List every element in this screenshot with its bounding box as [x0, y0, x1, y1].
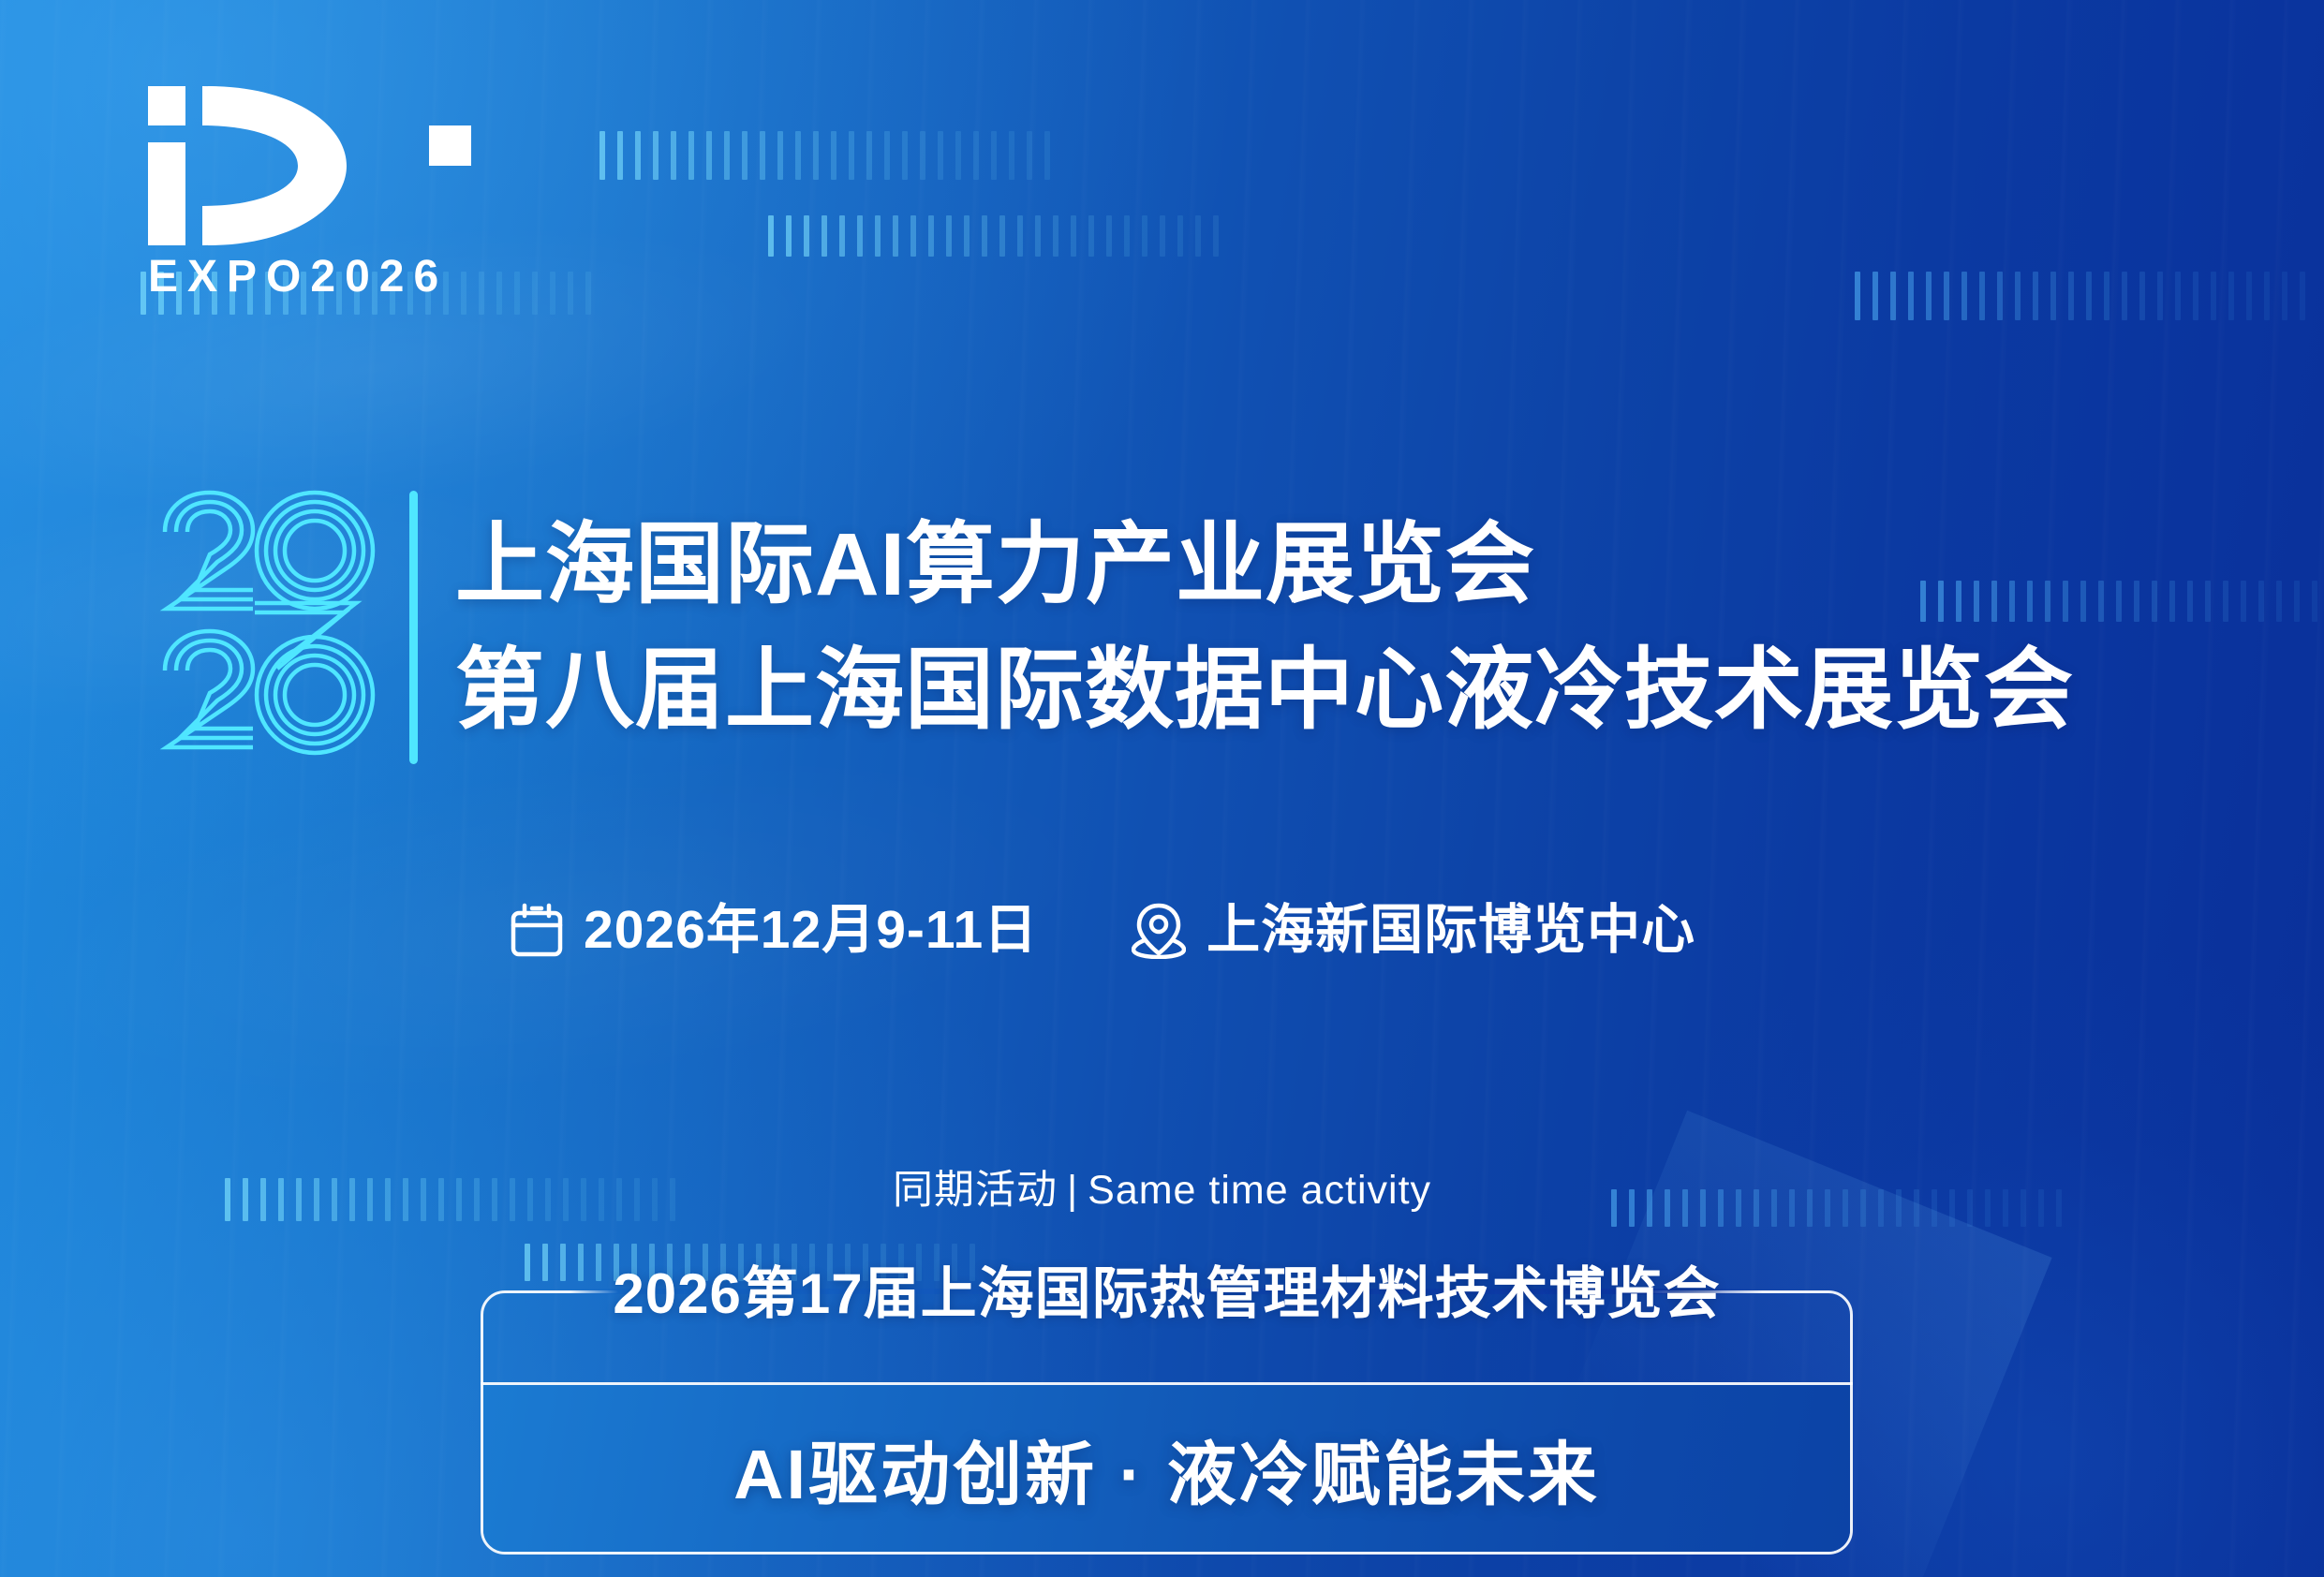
location-pin-icon	[1132, 901, 1186, 959]
event-date-text: 2026年12月9-11日	[584, 904, 1038, 957]
same-time-en: Same time activity	[1088, 1168, 1431, 1213]
idc-monogram-icon	[148, 86, 478, 245]
event-info-row: 2026年12月9-11日 上海新国际博览中心	[511, 901, 1695, 959]
title-line-2: 第八届上海国际数据中心液冷技术展览会	[455, 638, 2074, 743]
title-line-1: 上海国际AI算力产业展览会	[455, 512, 2074, 617]
same-time-cn: 同期活动	[893, 1168, 1058, 1213]
co-event-heading: 2026第17届上海国际热管理材料技术博览会	[481, 1248, 1853, 1330]
calendar-icon	[511, 902, 563, 958]
same-time-separator: |	[1058, 1168, 1088, 1213]
co-event-slogan: AI驱动创新 · 液冷赋能未来	[481, 1385, 1853, 1552]
title-accent-rule	[409, 491, 418, 764]
co-event-frame: 2026第17届上海国际热管理材料技术博览会 AI驱动创新 · 液冷赋能未来	[481, 1290, 1853, 1555]
idc-expo-logo[interactable]: EXPO2026	[148, 86, 485, 300]
same-time-activity: 同期活动|Same time activity	[0, 1157, 2324, 1216]
event-venue-text: 上海新国际博览中心	[1206, 904, 1695, 957]
year-2026-graphic	[157, 487, 377, 768]
event-date: 2026年12月9-11日	[511, 902, 1038, 958]
hero-title-block: 上海国际AI算力产业展览会 第八届上海国际数据中心液冷技术展览会	[157, 487, 2074, 768]
poster-canvas: EXPO2026	[0, 0, 2324, 1577]
event-venue: 上海新国际博览中心	[1132, 901, 1695, 959]
logo-wordmark: EXPO2026	[148, 255, 485, 300]
title-lines: 上海国际AI算力产业展览会 第八届上海国际数据中心液冷技术展览会	[455, 512, 2074, 743]
